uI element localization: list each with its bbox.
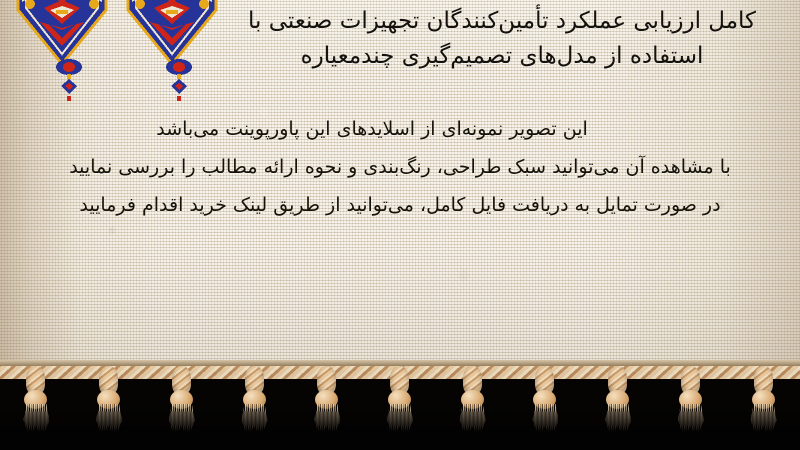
band-shadow: [0, 404, 800, 450]
ornament-group: [0, 0, 232, 104]
body-line-3: در صورت تمایل به دریافت فایل کامل، می‌تو…: [0, 186, 800, 224]
title-line-1: کامل ارزیابی عملکرد تأمین‌کنندگان تجهیزا…: [222, 4, 782, 39]
carpet-fringe-band: [0, 360, 800, 450]
slide-body: این تصویر نمونه‌ای از اسلایدهای این پاور…: [0, 110, 800, 224]
medallion-pendant-icon: [52, 58, 86, 104]
title-line-2: استفاده از مدل‌های تصمیم‌گیری چندمعیاره: [222, 39, 782, 74]
body-line-1: این تصویر نمونه‌ای از اسلایدهای این پاور…: [0, 110, 744, 148]
slide-title: کامل ارزیابی عملکرد تأمین‌کنندگان تجهیزا…: [222, 4, 782, 74]
medallion-pendant-icon: [162, 58, 196, 104]
slide-canvas: کامل ارزیابی عملکرد تأمین‌کنندگان تجهیزا…: [0, 0, 800, 450]
body-line-2: با مشاهده آن می‌توانید سبک طراحی، رنگ‌بن…: [0, 148, 800, 186]
